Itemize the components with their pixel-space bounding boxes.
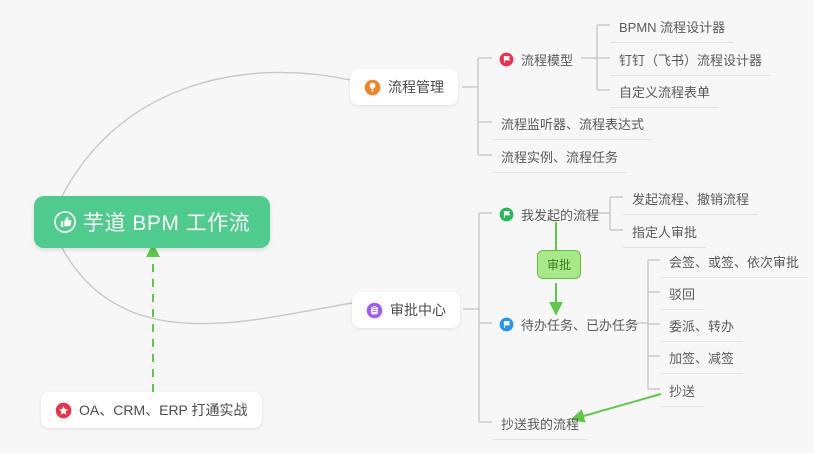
node-todo-done-task[interactable]: 待办任务、已办任务 [492, 309, 647, 340]
node-reject-label: 驳回 [669, 284, 695, 303]
branch-approval-center-label: 审批中心 [390, 300, 446, 320]
node-process-model[interactable]: 流程模型 [492, 44, 582, 75]
link-root-to-process-management [60, 72, 350, 200]
node-custom-process-form[interactable]: 自定义流程表单 [610, 76, 719, 108]
node-my-started-process[interactable]: 我发起的流程 [492, 199, 608, 230]
node-cc[interactable]: 抄送 [660, 375, 704, 407]
node-countersign[interactable]: 会签、或签、依次审批 [660, 246, 808, 278]
branch-process-management-label: 流程管理 [388, 77, 444, 97]
root-label: 芋道 BPM 工作流 [83, 207, 250, 237]
node-assignee-approval-label: 指定人审批 [632, 222, 697, 241]
node-bpmn-designer-label: BPMN 流程设计器 [619, 17, 725, 36]
node-instance-task[interactable]: 流程实例、流程任务 [492, 141, 627, 173]
node-dingtalk-feishu-designer[interactable]: 钉钉（飞书）流程设计器 [610, 44, 771, 76]
integration-note-label: OA、CRM、ERP 打通实战 [79, 400, 248, 420]
approval-badge[interactable]: 审批 [537, 250, 581, 279]
node-bpmn-designer[interactable]: BPMN 流程设计器 [610, 11, 734, 43]
approval-badge-label: 审批 [547, 256, 571, 273]
branch-process-management[interactable]: 流程管理 [350, 69, 458, 105]
node-delegate-transfer[interactable]: 委派、转办 [660, 310, 743, 342]
flag-green-icon [499, 207, 514, 222]
node-add-remove-sign[interactable]: 加签、减签 [660, 342, 743, 374]
node-custom-process-form-label: 自定义流程表单 [619, 82, 710, 101]
node-reject[interactable]: 驳回 [660, 278, 704, 310]
node-listener-expression-label: 流程监听器、流程表达式 [501, 114, 644, 133]
node-dingtalk-feishu-designer-label: 钉钉（飞书）流程设计器 [619, 50, 762, 69]
node-add-remove-sign-label: 加签、减签 [669, 348, 734, 367]
link-root-to-approval-center [60, 244, 352, 324]
node-cc-to-me-process[interactable]: 抄送我的流程 [492, 408, 588, 440]
lightbulb-icon [364, 79, 381, 96]
node-listener-expression[interactable]: 流程监听器、流程表达式 [492, 108, 653, 140]
star-icon [55, 402, 72, 419]
node-instance-task-label: 流程实例、流程任务 [501, 147, 618, 166]
flag-blue-icon [499, 317, 514, 332]
node-delegate-transfer-label: 委派、转办 [669, 316, 734, 335]
clipboard-icon [366, 302, 383, 319]
node-assignee-approval[interactable]: 指定人审批 [623, 216, 706, 248]
branch-approval-center[interactable]: 审批中心 [352, 292, 460, 328]
node-todo-done-task-label: 待办任务、已办任务 [521, 315, 638, 334]
node-countersign-label: 会签、或签、依次审批 [669, 252, 799, 271]
node-my-started-process-label: 我发起的流程 [521, 205, 599, 224]
integration-note[interactable]: OA、CRM、ERP 打通实战 [41, 392, 262, 428]
node-start-cancel-process-label: 发起流程、撤销流程 [632, 189, 749, 208]
mindmap-canvas: 芋道 BPM 工作流 流程管理 流程模型 BPMN 流程设计器 钉钉（飞书）流程… [0, 0, 814, 453]
flag-red-icon [499, 52, 514, 67]
node-process-model-label: 流程模型 [521, 50, 573, 69]
node-start-cancel-process[interactable]: 发起流程、撤销流程 [623, 183, 758, 215]
root-node[interactable]: 芋道 BPM 工作流 [34, 196, 270, 248]
thumbs-up-icon [54, 211, 76, 233]
node-cc-to-me-process-label: 抄送我的流程 [501, 414, 579, 433]
node-cc-label: 抄送 [669, 381, 695, 400]
